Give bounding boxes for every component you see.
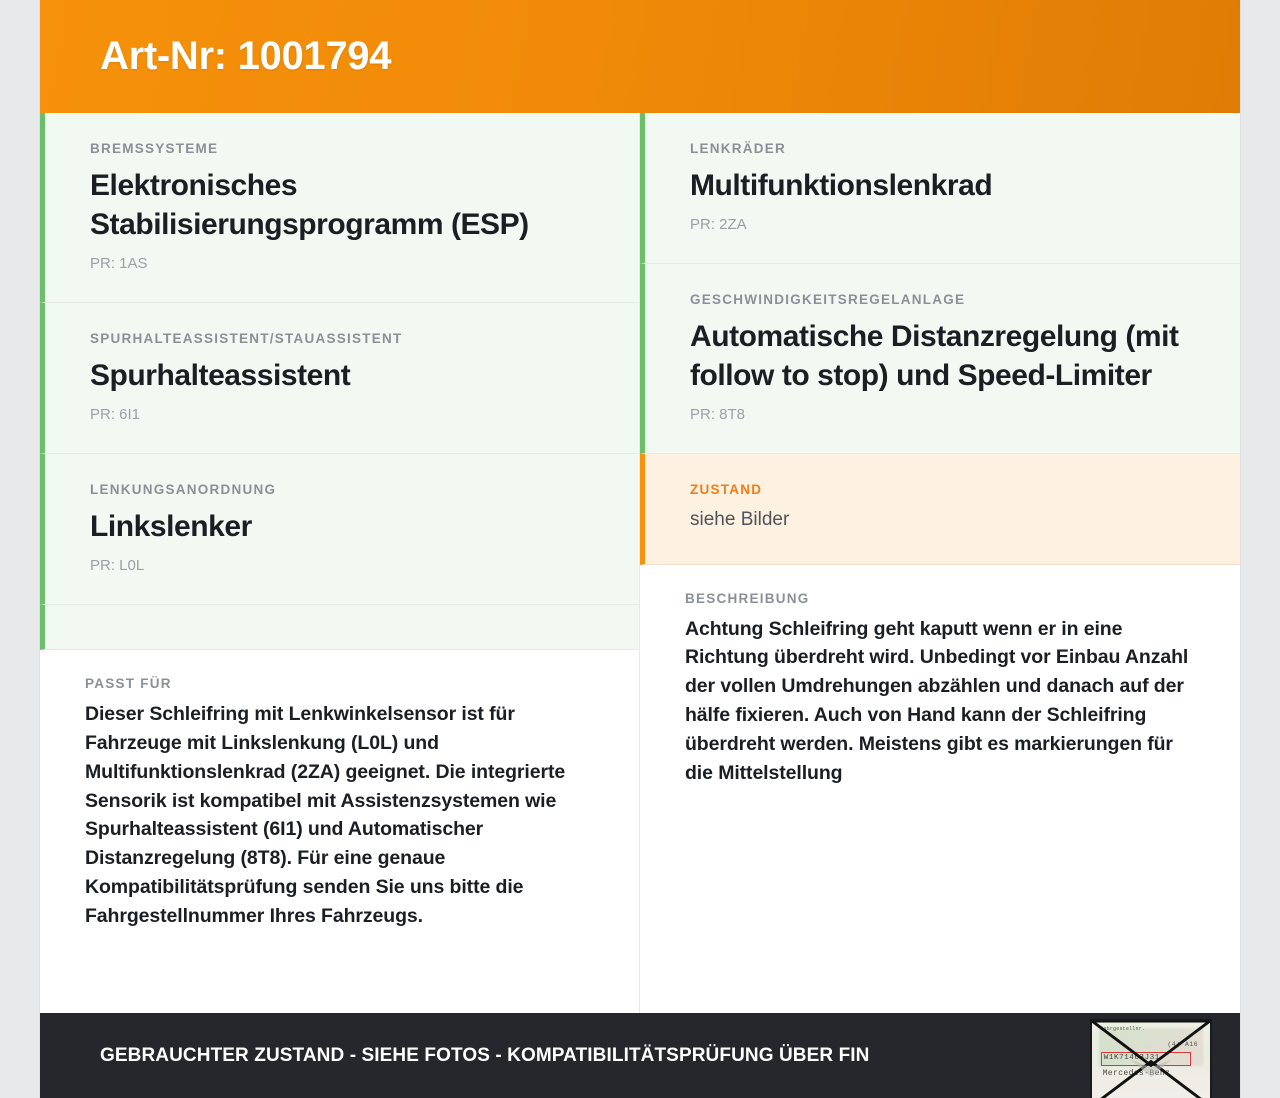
description-section: BESCHREIBUNG Achtung Schleifring geht ka… [640, 565, 1240, 808]
description-text: Achtung Schleifring geht kaputt wenn er … [685, 615, 1195, 788]
page-root: Art-Nr: 1001794 BREMSSYSTEME Elektronisc… [0, 0, 1280, 1098]
spec-title: Elektronisches Stabilisierungsprogramm (… [90, 166, 594, 244]
spec-label: SPURHALTEASSISTENT/STAUASSISTENT [90, 331, 594, 346]
footer-notice: GEBRAUCHTER ZUSTAND - SIEHE FOTOS - KOMP… [100, 1045, 870, 1067]
product-sheet: Art-Nr: 1001794 BREMSSYSTEME Elektronisc… [40, 0, 1240, 1098]
condition-card: ZUSTAND siehe Bilder [640, 454, 1240, 565]
spec-pr-code: PR: L0L [90, 557, 594, 574]
content-columns: BREMSSYSTEME Elektronisches Stabilisieru… [40, 113, 1240, 1013]
condition-value: siehe Bilder [690, 507, 1195, 534]
spec-label: LENKRÄDER [690, 141, 1195, 156]
spec-pr-code: PR: 6I1 [90, 406, 594, 423]
condition-label: ZUSTAND [690, 482, 1195, 497]
header-bar: Art-Nr: 1001794 [40, 0, 1240, 113]
spec-pr-code: PR: 2ZA [690, 216, 1195, 233]
spec-title: Multifunktionslenkrad [690, 166, 1195, 205]
right-spacer [640, 808, 1240, 1013]
spec-card-lenkungsanordnung: LENKUNGSANORDNUNG Linkslenker PR: L0L [40, 454, 639, 605]
page-title: Art-Nr: 1001794 [100, 34, 391, 79]
spec-title: Spurhalteassistent [90, 356, 594, 395]
fits-for-text: Dieser Schleifring mit Lenkwinkelsensor … [85, 700, 594, 931]
spec-card-geschwindigkeitsregelanlage: GESCHWINDIGKEITSREGELANLAGE Automatische… [640, 264, 1240, 454]
spec-pr-code: PR: 8T8 [690, 406, 1195, 423]
left-column: BREMSSYSTEME Elektronisches Stabilisieru… [40, 113, 640, 1013]
left-spacer [40, 951, 639, 1013]
spec-title: Automatische Distanzregelung (mit follow… [690, 317, 1195, 395]
spec-pr-code: PR: 1AS [90, 255, 594, 272]
right-column: LENKRÄDER Multifunktionslenkrad PR: 2ZA … [640, 113, 1240, 1013]
description-label: BESCHREIBUNG [685, 591, 1195, 606]
fits-for-section: PASST FÜR Dieser Schleifring mit Lenkwin… [40, 650, 639, 951]
accent-filler-left [40, 605, 639, 650]
spec-title: Linkslenker [90, 507, 594, 546]
spec-label: BREMSSYSTEME [90, 141, 594, 156]
spec-card-lenkraeder: LENKRÄDER Multifunktionslenkrad PR: 2ZA [640, 113, 1240, 264]
spec-label: GESCHWINDIGKEITSREGELANLAGE [690, 292, 1195, 307]
envelope-icon [1092, 1021, 1210, 1098]
spec-card-spurhalteassistent: SPURHALTEASSISTENT/STAUASSISTENT Spurhal… [40, 303, 639, 454]
footer-bar: GEBRAUCHTER ZUSTAND - SIEHE FOTOS - KOMP… [40, 1013, 1240, 1098]
spec-card-bremssysteme: BREMSSYSTEME Elektronisches Stabilisieru… [40, 113, 639, 303]
vehicle-registration-thumbnail: Fahrgestellnr. (4) A16 W1K71463J31 Merce… [1090, 1019, 1212, 1098]
spec-label: LENKUNGSANORDNUNG [90, 482, 594, 497]
fits-for-label: PASST FÜR [85, 676, 594, 691]
